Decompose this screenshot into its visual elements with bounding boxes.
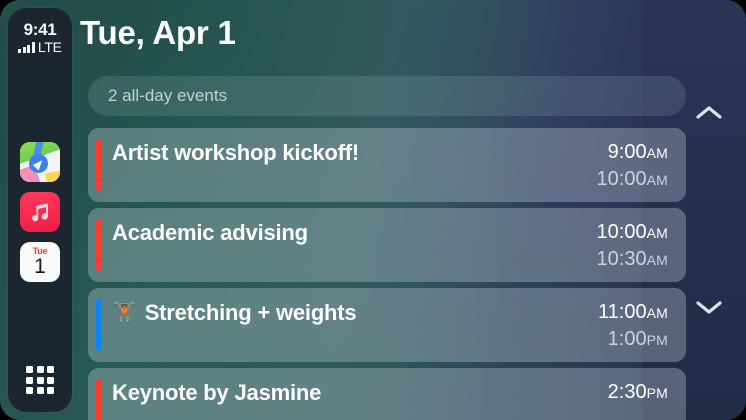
event-end-time: 1:00PM (598, 326, 668, 353)
event-start-time: 2:30PM (608, 379, 668, 406)
status-clock: 9:41 (24, 20, 57, 40)
scroll-down-button[interactable] (686, 290, 732, 324)
status-network: LTE (18, 42, 61, 53)
event-end-time: 10:30AM (597, 246, 668, 273)
event-row[interactable]: Academic advising10:00AM10:30AM (88, 208, 686, 282)
event-start-meridiem: AM (647, 225, 668, 241)
carplay-screen: Tue, Apr 1 2 all-day events Artist works… (0, 0, 746, 420)
event-title: Academic advising (112, 220, 308, 246)
event-end-meridiem: AM (647, 252, 668, 268)
event-row[interactable]: Artist workshop kickoff!9:00AM10:00AM (88, 128, 686, 202)
chevron-down-icon (696, 299, 722, 315)
sidebar-item-music[interactable] (20, 192, 60, 232)
event-times: 10:00AM10:30AM (597, 219, 668, 273)
app-grid-icon[interactable] (26, 366, 54, 394)
cellular-bars-icon (18, 42, 35, 53)
scroll-up-button[interactable] (686, 96, 732, 130)
event-times: 9:00AM10:00AM (597, 139, 668, 193)
event-emoji-icon: 🏋🏽 (112, 303, 137, 323)
sidebar-item-maps[interactable] (20, 142, 60, 182)
event-times: 11:00AM1:00PM (598, 299, 668, 353)
event-accent-bar (96, 219, 101, 271)
event-accent-bar (96, 299, 101, 351)
chevron-up-icon (696, 105, 722, 121)
event-start-time: 10:00AM (597, 219, 668, 246)
event-title: Keynote by Jasmine (112, 380, 321, 406)
event-title-text: Keynote by Jasmine (112, 380, 321, 406)
event-end-time: 10:00AM (597, 166, 668, 193)
status-bar: 9:41 LTE (8, 20, 72, 53)
event-title-text: Artist workshop kickoff! (112, 140, 359, 166)
all-day-events-pill[interactable]: 2 all-day events (88, 76, 686, 116)
event-row[interactable]: 🏋🏽Stretching + weights11:00AM1:00PM (88, 288, 686, 362)
event-times: 2:30PM (608, 379, 668, 406)
event-accent-bar (96, 139, 101, 191)
music-note-icon (29, 201, 51, 223)
event-title: Artist workshop kickoff! (112, 140, 359, 166)
event-start-meridiem: PM (647, 385, 668, 401)
event-end-meridiem: AM (647, 172, 668, 188)
sidebar-item-calendar[interactable]: Tue 1 (20, 242, 60, 282)
event-accent-bar (96, 379, 101, 420)
event-row[interactable]: Keynote by Jasmine2:30PM (88, 368, 686, 420)
all-day-events-label: 2 all-day events (108, 86, 227, 106)
calendar-pane: Tue, Apr 1 2 all-day events Artist works… (0, 0, 746, 420)
event-title: 🏋🏽Stretching + weights (112, 300, 356, 326)
event-start-time: 9:00AM (597, 139, 668, 166)
sidebar-app-list: Tue 1 (8, 142, 72, 282)
event-list: Artist workshop kickoff!9:00AM10:00AMAca… (88, 128, 686, 420)
network-label: LTE (38, 42, 62, 53)
event-end-meridiem: PM (647, 332, 668, 348)
event-start-meridiem: AM (647, 145, 668, 161)
event-title-text: Stretching + weights (145, 300, 357, 326)
sidebar: 9:41 LTE (8, 8, 72, 412)
event-start-meridiem: AM (647, 305, 668, 321)
event-title-text: Academic advising (112, 220, 308, 246)
event-start-time: 11:00AM (598, 299, 668, 326)
calendar-icon-day: 1 (34, 256, 46, 278)
page-title: Tue, Apr 1 (80, 16, 236, 49)
